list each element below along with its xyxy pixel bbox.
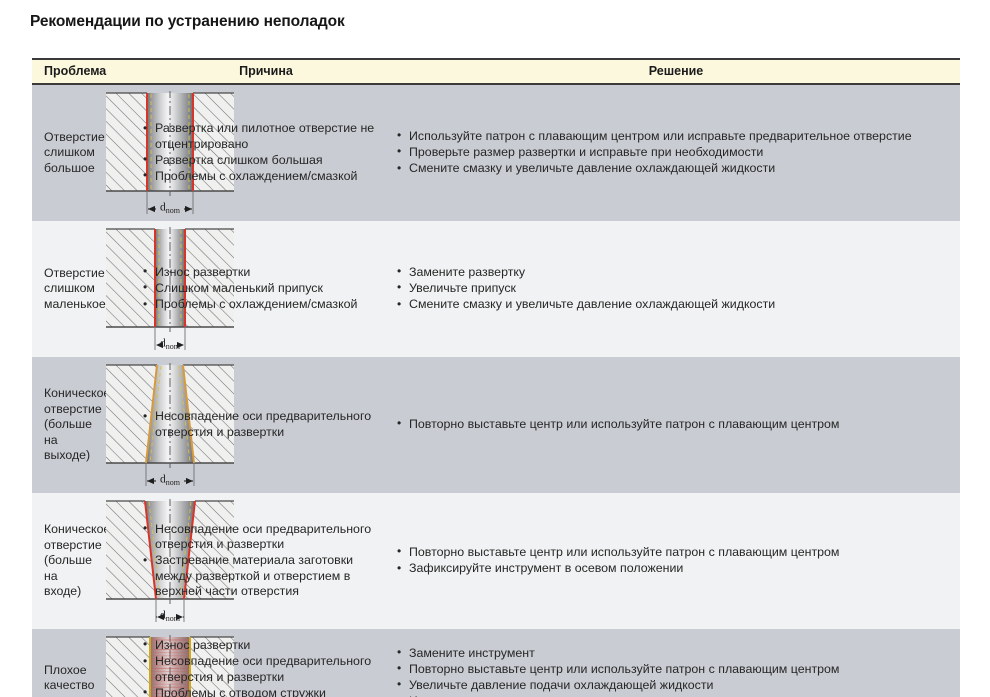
problem-label-line: отверстие: [44, 402, 82, 418]
cause-list: Несовпадение оси предварительного отверс…: [142, 409, 384, 440]
cause-item: Износ развертки: [142, 265, 384, 281]
cause-list: Несовпадение оси предварительного отверс…: [142, 522, 384, 600]
table-row: Отверстиеслишкоммаленькое dnomИзнос разв…: [32, 221, 960, 357]
cause-item: Проблемы с охлаждением/смазкой: [142, 169, 384, 185]
solution-item: Зафиксируйте инструмент в осевом положен…: [396, 561, 950, 577]
column-header-cause: Причина: [140, 60, 392, 84]
problem-label-line: Плохое: [44, 663, 82, 679]
cell-problem: Коническоеотверстие(больше навыходе): [32, 357, 86, 493]
table-body: Отверстиеслишкомбольшое dnomРазвертка ил…: [32, 84, 960, 697]
solution-item: Используйте патрон с плавающим центром и…: [396, 129, 950, 145]
cell-solution: Используйте патрон с плавающим центром и…: [392, 84, 960, 221]
cause-item: Развертка или пилотное отверстие не отце…: [142, 121, 384, 152]
solution-item: Замените развертку: [396, 265, 950, 281]
problem-label-line: качество: [44, 678, 82, 694]
column-header-problem: Проблема: [32, 60, 140, 84]
page-title: Рекомендации по устранению неполадок: [30, 13, 345, 31]
solution-item: Замените инструмент: [396, 646, 950, 662]
solution-list: Замените разверткуУвеличьте припускСмени…: [396, 265, 950, 313]
problem-label-line: (больше на: [44, 553, 82, 584]
table-row: Коническоеотверстие(больше навыходе) dno…: [32, 357, 960, 493]
cell-solution: Замените инструментПовторно выставьте це…: [392, 629, 960, 697]
problem-label-line: слишком: [44, 281, 82, 297]
cell-problem: Отверстиеслишкоммаленькое: [32, 221, 86, 357]
problem-label-line: входе): [44, 584, 82, 600]
table-row: Отверстиеслишкомбольшое dnomРазвертка ил…: [32, 84, 960, 221]
cell-problem: Плохоекачествоповерхности: [32, 629, 86, 697]
solution-item: Смените смазку и увеличьте давление охла…: [396, 297, 950, 313]
solution-item: Повторно выставьте центр или используйте…: [396, 417, 950, 433]
troubleshooting-table-wrapper: Проблема Причина Решение Отверстиеслишко…: [32, 58, 960, 697]
cause-list: Износ разверткиНесовпадение оси предвари…: [142, 638, 384, 697]
table-header: Проблема Причина Решение: [32, 60, 960, 84]
solution-item: Повторно выставьте центр или используйте…: [396, 662, 950, 678]
cause-list: Износ разверткиСлишком маленький припуск…: [142, 265, 384, 313]
problem-label-line: слишком: [44, 145, 82, 161]
cell-solution: Замените разверткуУвеличьте припускСмени…: [392, 221, 960, 357]
cell-figure: dnom: [86, 493, 140, 629]
column-header-solution: Решение: [392, 60, 960, 84]
cause-item: Несовпадение оси предварительного отверс…: [142, 654, 384, 685]
cause-item: Застревание материала заготовки между ра…: [142, 553, 384, 600]
problem-label-line: большое: [44, 161, 82, 177]
solution-list: Замените инструментПовторно выставьте це…: [396, 646, 950, 697]
solution-item: Увеличьте давление подачи охлаждающей жи…: [396, 678, 950, 694]
cause-item: Слишком маленький припуск: [142, 281, 384, 297]
problem-label-line: Коническое: [44, 386, 82, 402]
solution-list: Повторно выставьте центр или используйте…: [396, 545, 950, 577]
cause-item: Несовпадение оси предварительного отверс…: [142, 409, 384, 440]
solution-list: Используйте патрон с плавающим центром и…: [396, 129, 950, 177]
cell-figure: dnom: [86, 357, 140, 493]
problem-label-line: маленькое: [44, 297, 82, 313]
cell-cause: Износ разверткиНесовпадение оси предвари…: [140, 629, 392, 697]
table-row: Коническоеотверстие(больше навходе) dnom…: [32, 493, 960, 629]
cause-list: Развертка или пилотное отверстие не отце…: [142, 121, 384, 184]
problem-label-line: Коническое: [44, 522, 82, 538]
cell-solution: Повторно выставьте центр или используйте…: [392, 493, 960, 629]
cell-problem: Коническоеотверстие(больше навходе): [32, 493, 86, 629]
cause-item: Проблемы с охлаждением/смазкой: [142, 297, 384, 313]
solution-item: Повторно выставьте центр или используйте…: [396, 545, 950, 561]
cause-item: Проблемы с отводом стружки: [142, 686, 384, 697]
solution-item: Увеличьте припуск: [396, 281, 950, 297]
troubleshooting-table: Проблема Причина Решение Отверстиеслишко…: [32, 60, 960, 697]
problem-label-line: Отверстие: [44, 130, 82, 146]
solution-item: Смените смазку и увеличьте давление охла…: [396, 161, 950, 177]
solution-item: Проверьте размер развертки и исправьте п…: [396, 145, 950, 161]
cause-item: Износ развертки: [142, 638, 384, 654]
solution-list: Повторно выставьте центр или используйте…: [396, 417, 950, 433]
problem-label-line: выходе): [44, 448, 82, 464]
page-root: Рекомендации по устранению неполадок Про…: [0, 0, 990, 697]
cell-problem: Отверстиеслишкомбольшое: [32, 84, 86, 221]
problem-label-line: (больше на: [44, 417, 82, 448]
table-row: Плохоекачествоповерхности Износ развертк…: [32, 629, 960, 697]
problem-label-line: Отверстие: [44, 266, 82, 282]
cause-item: Развертка слишком большая: [142, 153, 384, 169]
cell-figure: [86, 629, 140, 697]
cause-item: Несовпадение оси предварительного отверс…: [142, 522, 384, 553]
table-header-row: Проблема Причина Решение: [32, 60, 960, 84]
cell-solution: Повторно выставьте центр или используйте…: [392, 357, 960, 493]
problem-label-line: отверстие: [44, 538, 82, 554]
